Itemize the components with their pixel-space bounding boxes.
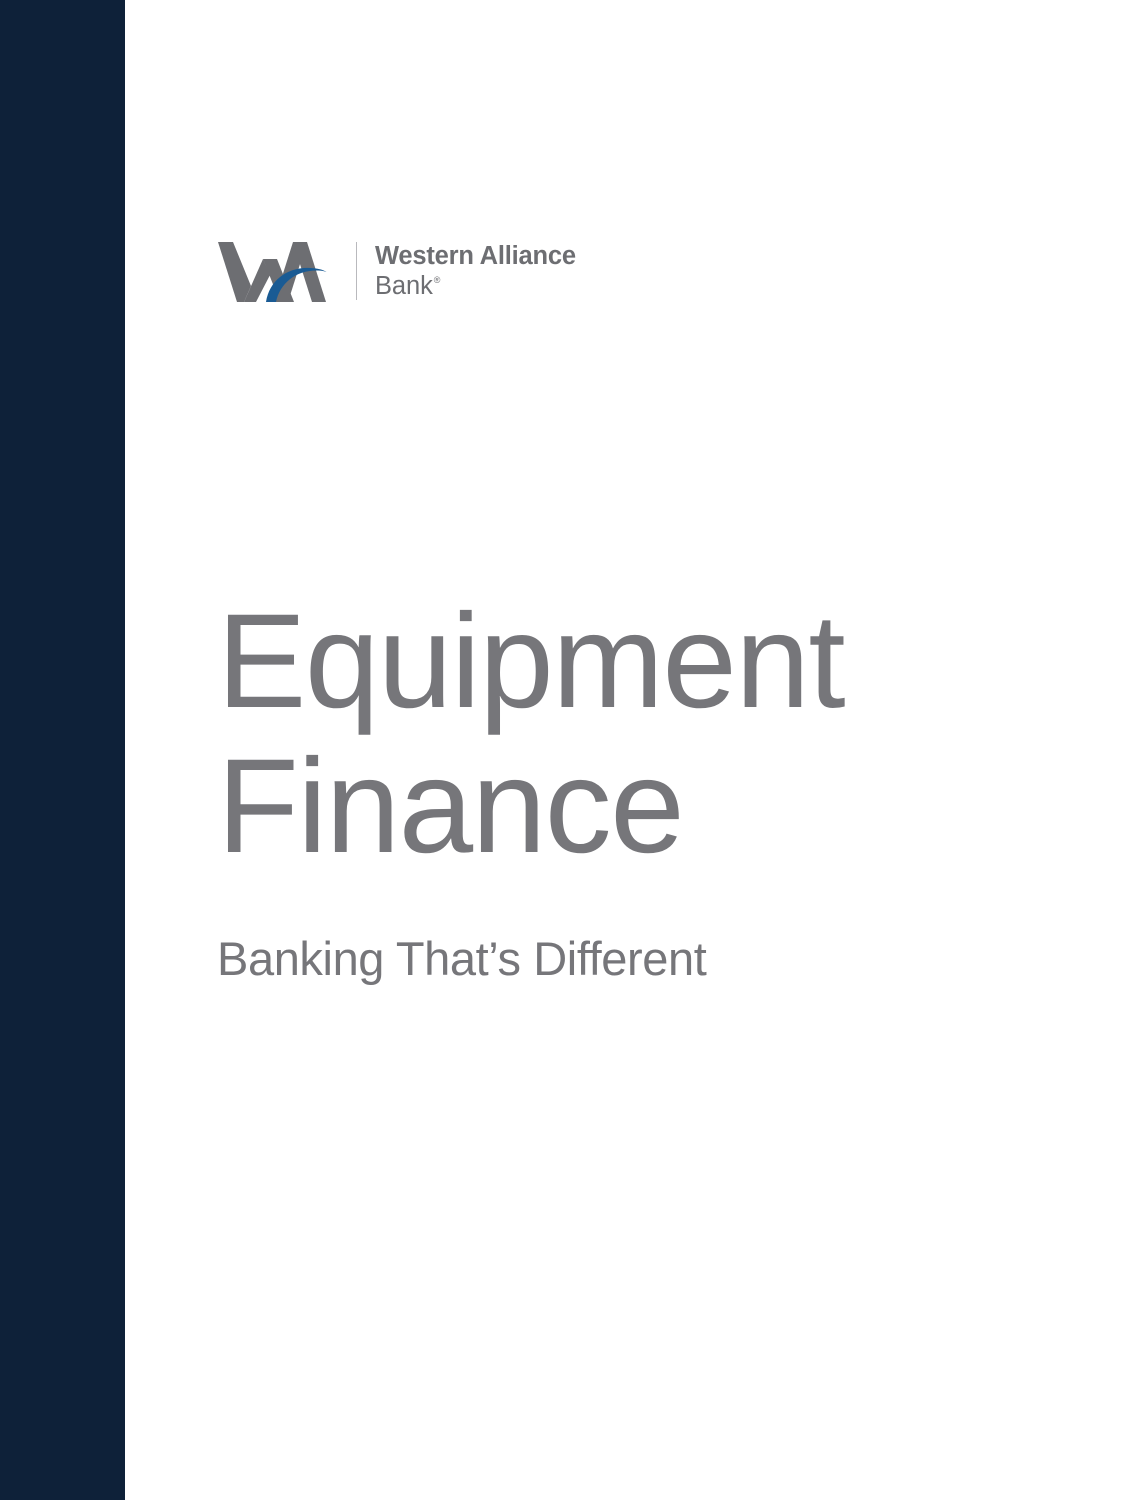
logo-bank-text: Bank [375, 271, 433, 301]
cover-content: Western Alliance Bank® Equipment Finance… [125, 0, 1125, 1500]
logo-entity-type: Bank® [375, 271, 576, 301]
page-title-line-2: Finance [217, 735, 1077, 880]
logo-company-name: Western Alliance [375, 241, 576, 271]
logo-wordmark: Western Alliance Bank® [375, 241, 576, 301]
cover-page: Western Alliance Bank® Equipment Finance… [0, 0, 1125, 1500]
logo-divider [356, 242, 357, 300]
title-block: Equipment Finance Banking That’s Differe… [217, 590, 1077, 988]
registered-trademark-icon: ® [434, 276, 441, 285]
page-title-line-1: Equipment [217, 590, 1077, 735]
brand-logo: Western Alliance Bank® [218, 236, 576, 306]
wa-monogram-icon [218, 238, 340, 304]
page-subtitle: Banking That’s Different [217, 931, 1077, 987]
left-accent-bar [0, 0, 125, 1500]
